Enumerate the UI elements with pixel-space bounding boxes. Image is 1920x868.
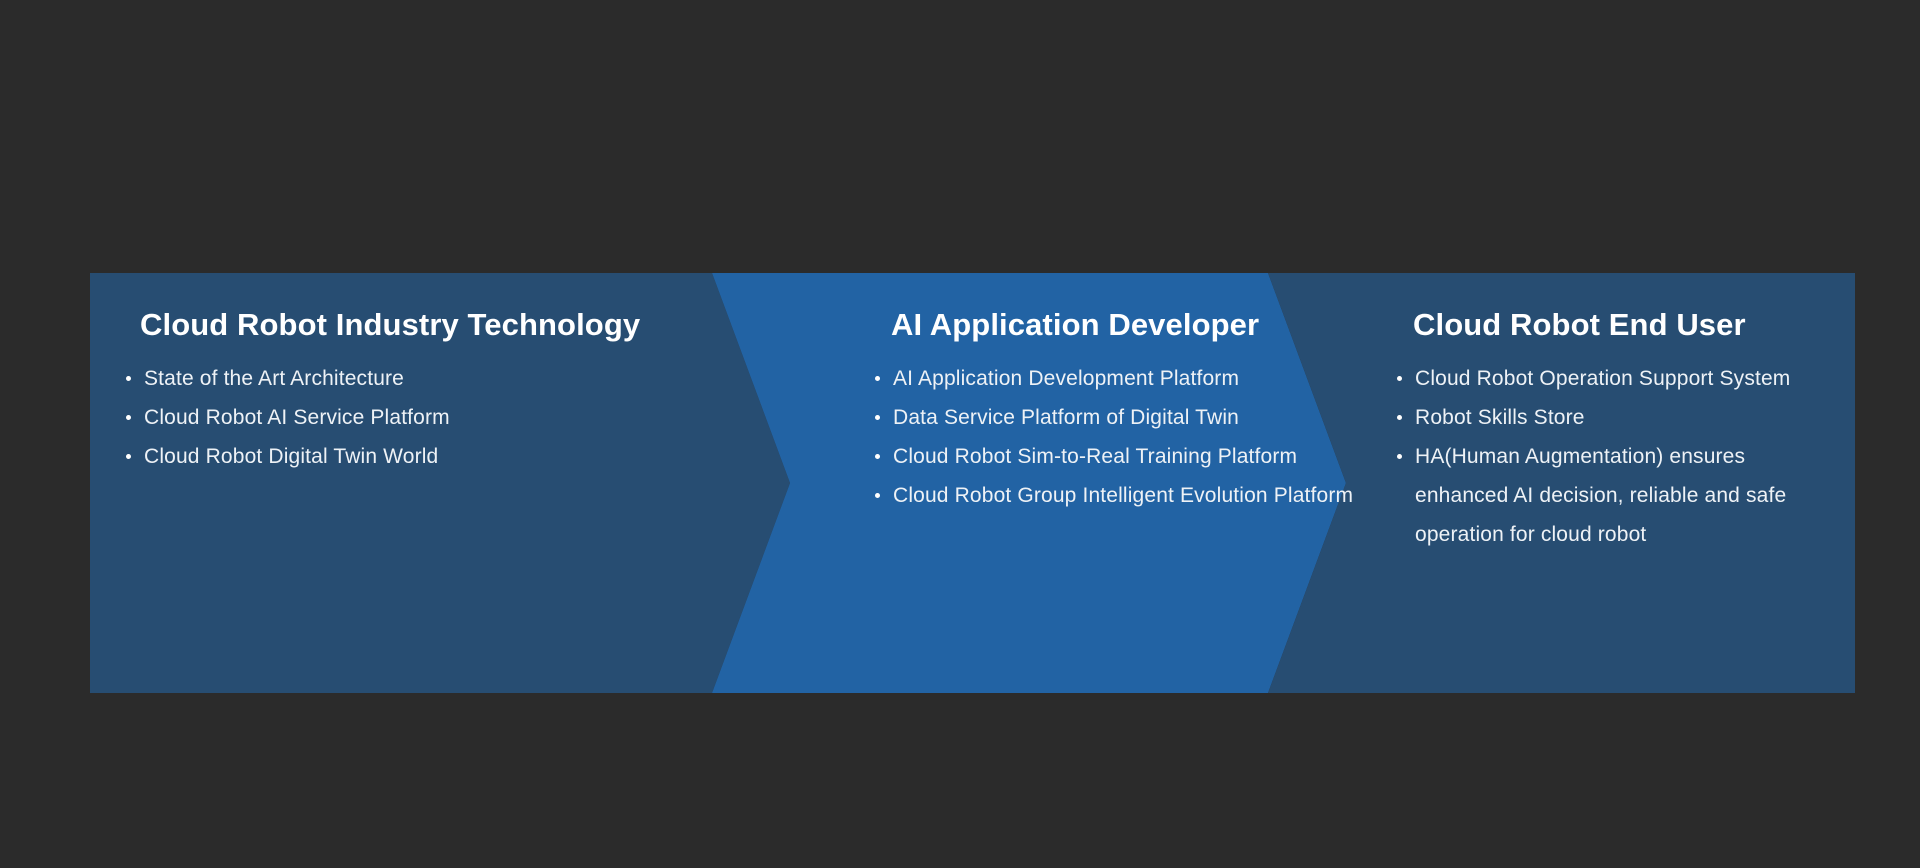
list-item: Cloud Robot Operation Support System — [1394, 359, 1814, 398]
panel-1-title: Cloud Robot Industry Technology — [140, 309, 640, 340]
panel-2-title: AI Application Developer — [891, 309, 1259, 340]
panel-cloud-robot-industry-technology: Cloud Robot Industry Technology State of… — [90, 273, 730, 693]
panel-cloud-robot-end-user: Cloud Robot End User Cloud Robot Operati… — [1360, 273, 1860, 693]
panel-3-title: Cloud Robot End User — [1413, 309, 1746, 340]
list-item: Data Service Platform of Digital Twin — [872, 398, 1442, 437]
panel-ai-application-developer: AI Application Developer AI Application … — [804, 273, 1444, 693]
list-item: HA(Human Augmentation) ensures enhanced … — [1394, 437, 1814, 554]
list-item: Cloud Robot AI Service Platform — [123, 398, 693, 437]
panel-1-bullet-list: State of the Art Architecture Cloud Robo… — [123, 359, 693, 476]
panel-3-bullet-list: Cloud Robot Operation Support System Rob… — [1394, 359, 1814, 554]
list-item: Cloud Robot Sim-to-Real Training Platfor… — [872, 437, 1442, 476]
panel-2-bullet-list: AI Application Development Platform Data… — [872, 359, 1442, 515]
list-item: Cloud Robot Group Intelligent Evolution … — [872, 476, 1442, 515]
list-item: Cloud Robot Digital Twin World — [123, 437, 693, 476]
cloud-robot-ecosystem-banner: Cloud Robot Industry Technology State of… — [90, 273, 1855, 693]
list-item: Robot Skills Store — [1394, 398, 1814, 437]
list-item: AI Application Development Platform — [872, 359, 1442, 398]
list-item: State of the Art Architecture — [123, 359, 693, 398]
